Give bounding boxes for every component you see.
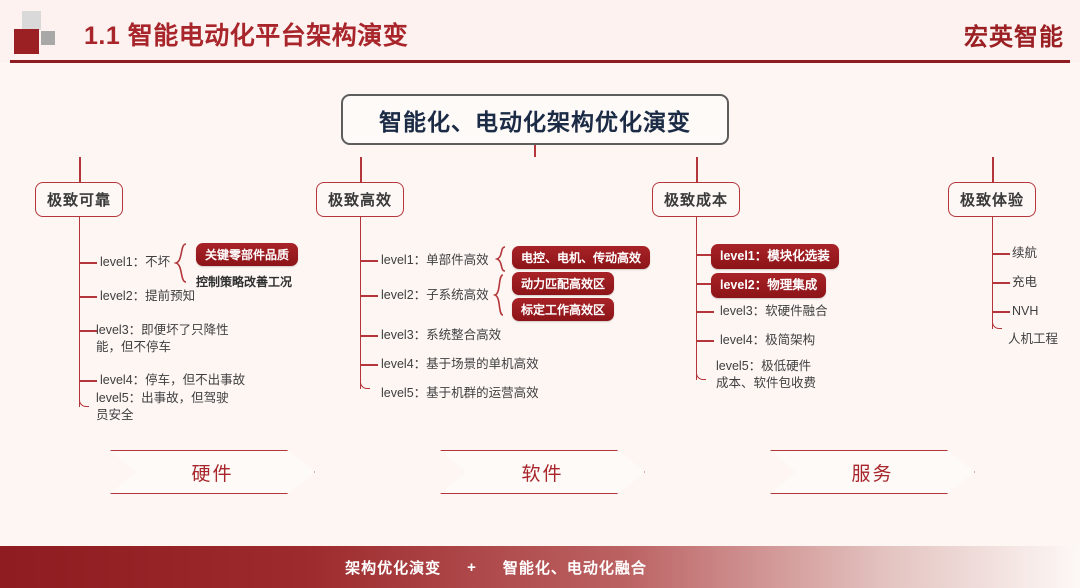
spine-col-2 xyxy=(696,217,698,380)
leaf-badge: level1：模块化选装 xyxy=(711,244,839,269)
leaf-item: 续航 xyxy=(1012,245,1037,262)
leaf-item: level3：即便坏了只降性 能，但不停车 xyxy=(96,322,229,356)
page-title: 1.1 智能电动化平台架构演变 xyxy=(84,16,408,52)
footer-right-text: 智能化、电动化融合 xyxy=(503,557,647,578)
branch-node-reliability: 极致可靠 xyxy=(35,182,123,217)
leaf-item: level4：停车，但不出事故 xyxy=(100,372,245,389)
spine-cap-col-2 xyxy=(696,370,706,380)
tick-2-2 xyxy=(697,311,714,313)
sub-badge: 动力匹配高效区 xyxy=(512,272,614,295)
leaf-item: level5：基于机群的运营高效 xyxy=(381,385,539,402)
leaf-item: level3：软硬件融合 xyxy=(720,303,828,320)
sub-badge: 标定工作高效区 xyxy=(512,298,614,321)
tick-0-0 xyxy=(80,262,97,264)
tick-0-3 xyxy=(80,380,97,382)
branch-node-experience: 极致体验 xyxy=(948,182,1036,217)
leaf-item: 充电 xyxy=(1012,274,1037,291)
brace-icon xyxy=(493,274,505,316)
sub-badge: 关键零部件品质 xyxy=(196,243,298,266)
tick-3-2 xyxy=(993,311,1010,313)
branch-drop-2 xyxy=(696,157,698,183)
branch-label: 极致高效 xyxy=(328,189,392,210)
trunk-stem xyxy=(534,145,536,157)
branch-drop-1 xyxy=(360,157,362,183)
leaf-item: level1：不坏 xyxy=(100,254,170,271)
leaf-item: level2：子系统高效 xyxy=(381,287,489,304)
leaf-item: level4：基于场景的单机高效 xyxy=(381,356,539,373)
branch-label: 极致成本 xyxy=(664,189,728,210)
branch-drop-3 xyxy=(992,157,994,183)
branch-node-efficiency: 极致高效 xyxy=(316,182,404,217)
leaf-item: level3：系统整合高效 xyxy=(381,327,501,344)
sub-label: 控制策略改善工况 xyxy=(196,273,292,290)
leaf-badge: level2：物理集成 xyxy=(711,273,826,298)
brace-icon xyxy=(174,243,188,283)
tick-0-1 xyxy=(80,296,97,298)
tick-0-2 xyxy=(80,330,97,332)
brace-icon xyxy=(495,246,507,272)
tick-1-2 xyxy=(361,335,378,337)
spine-cap-col-3 xyxy=(992,319,1002,329)
decor-square-light xyxy=(22,11,41,30)
chevron-software[interactable] xyxy=(440,450,645,494)
branch-drop-0 xyxy=(79,157,81,183)
slide-canvas: 1.1 智能电动化平台架构演变 宏英智能 智能化、电动化架构优化演变 极致可靠 … xyxy=(0,0,1080,588)
root-node-label: 智能化、电动化架构优化演变 xyxy=(379,103,691,137)
chevron-hardware[interactable] xyxy=(110,450,315,494)
leaf-item: level5：出事故，但驾驶 员安全 xyxy=(96,390,229,424)
leaf-item: level4：极简架构 xyxy=(720,332,815,349)
root-node: 智能化、电动化架构优化演变 xyxy=(341,94,729,145)
slide-header: 1.1 智能电动化平台架构演变 宏英智能 xyxy=(0,0,1080,62)
sub-badge: 电控、电机、传动高效 xyxy=(512,246,650,269)
branch-label: 极致体验 xyxy=(960,189,1024,210)
leaf-item: level5：极低硬件 成本、软件包收费 xyxy=(716,358,816,392)
chevron-service[interactable] xyxy=(770,450,975,494)
branch-label: 极致可靠 xyxy=(47,189,111,210)
slide-footer: 架构优化演变 + 智能化、电动化融合 xyxy=(0,546,1080,588)
leaf-item: 人机工程 xyxy=(1008,331,1058,348)
footer-left-text: 架构优化演变 xyxy=(345,557,441,578)
spine-col-0 xyxy=(79,217,81,407)
tick-1-3 xyxy=(361,364,378,366)
decor-square-gray xyxy=(41,31,55,45)
leaf-item: level1：单部件高效 xyxy=(381,252,489,269)
tick-3-0 xyxy=(993,253,1010,255)
leaf-item: NVH xyxy=(1012,303,1038,320)
decor-square-red xyxy=(14,29,39,54)
tick-1-0 xyxy=(361,260,378,262)
branch-node-cost: 极致成本 xyxy=(652,182,740,217)
tick-3-1 xyxy=(993,282,1010,284)
tick-2-3 xyxy=(697,340,714,342)
leaf-item: level2：提前预知 xyxy=(100,288,195,305)
brand-logo: 宏英智能 xyxy=(964,17,1064,52)
tick-1-1 xyxy=(361,295,378,297)
footer-plus-sign: + xyxy=(467,559,477,576)
spine-cap-col-0 xyxy=(79,397,89,407)
header-divider xyxy=(10,60,1070,63)
spine-cap-col-1 xyxy=(360,379,370,389)
